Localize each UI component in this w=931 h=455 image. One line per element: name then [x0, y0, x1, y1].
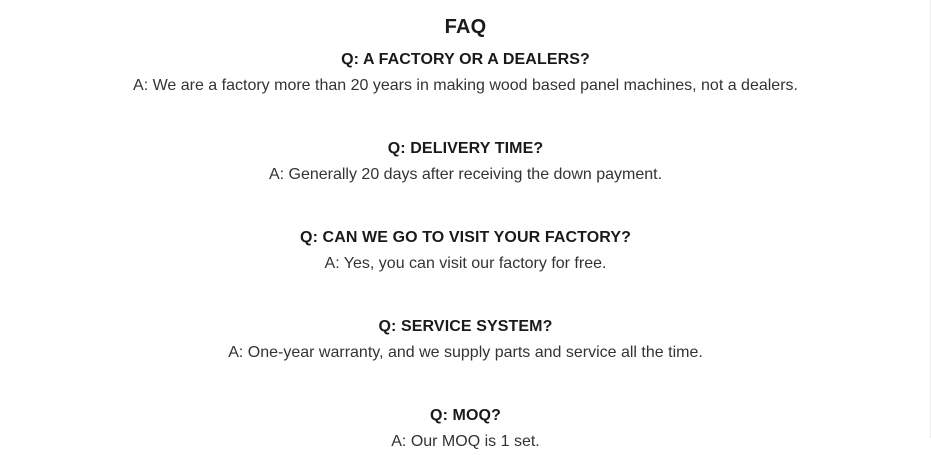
faq-question: Q: MOQ? — [0, 403, 931, 429]
faq-item: Q: DELIVERY TIME? A: Generally 20 days a… — [0, 136, 931, 188]
faq-answer: A: One-year warranty, and we supply part… — [0, 340, 931, 366]
faq-question: Q: SERVICE SYSTEM? — [0, 314, 931, 340]
faq-answer: A: Yes, you can visit our factory for fr… — [0, 251, 931, 277]
faq-question: Q: CAN WE GO TO VISIT YOUR FACTORY? — [0, 225, 931, 251]
faq-document: FAQ Q: A FACTORY OR A DEALERS? A: We are… — [0, 0, 931, 455]
page-title: FAQ — [0, 0, 931, 37]
faq-question: Q: DELIVERY TIME? — [0, 136, 931, 162]
faq-list: Q: A FACTORY OR A DEALERS? A: We are a f… — [0, 47, 931, 455]
faq-item: Q: CAN WE GO TO VISIT YOUR FACTORY? A: Y… — [0, 225, 931, 277]
faq-item: Q: SERVICE SYSTEM? A: One-year warranty,… — [0, 314, 931, 366]
faq-item: Q: MOQ? A: Our MOQ is 1 set. — [0, 403, 931, 455]
faq-answer: A: Generally 20 days after receiving the… — [0, 162, 931, 188]
faq-item: Q: A FACTORY OR A DEALERS? A: We are a f… — [0, 47, 931, 99]
faq-answer: A: We are a factory more than 20 years i… — [0, 73, 931, 99]
faq-question: Q: A FACTORY OR A DEALERS? — [0, 47, 931, 73]
faq-answer: A: Our MOQ is 1 set. — [0, 429, 931, 455]
